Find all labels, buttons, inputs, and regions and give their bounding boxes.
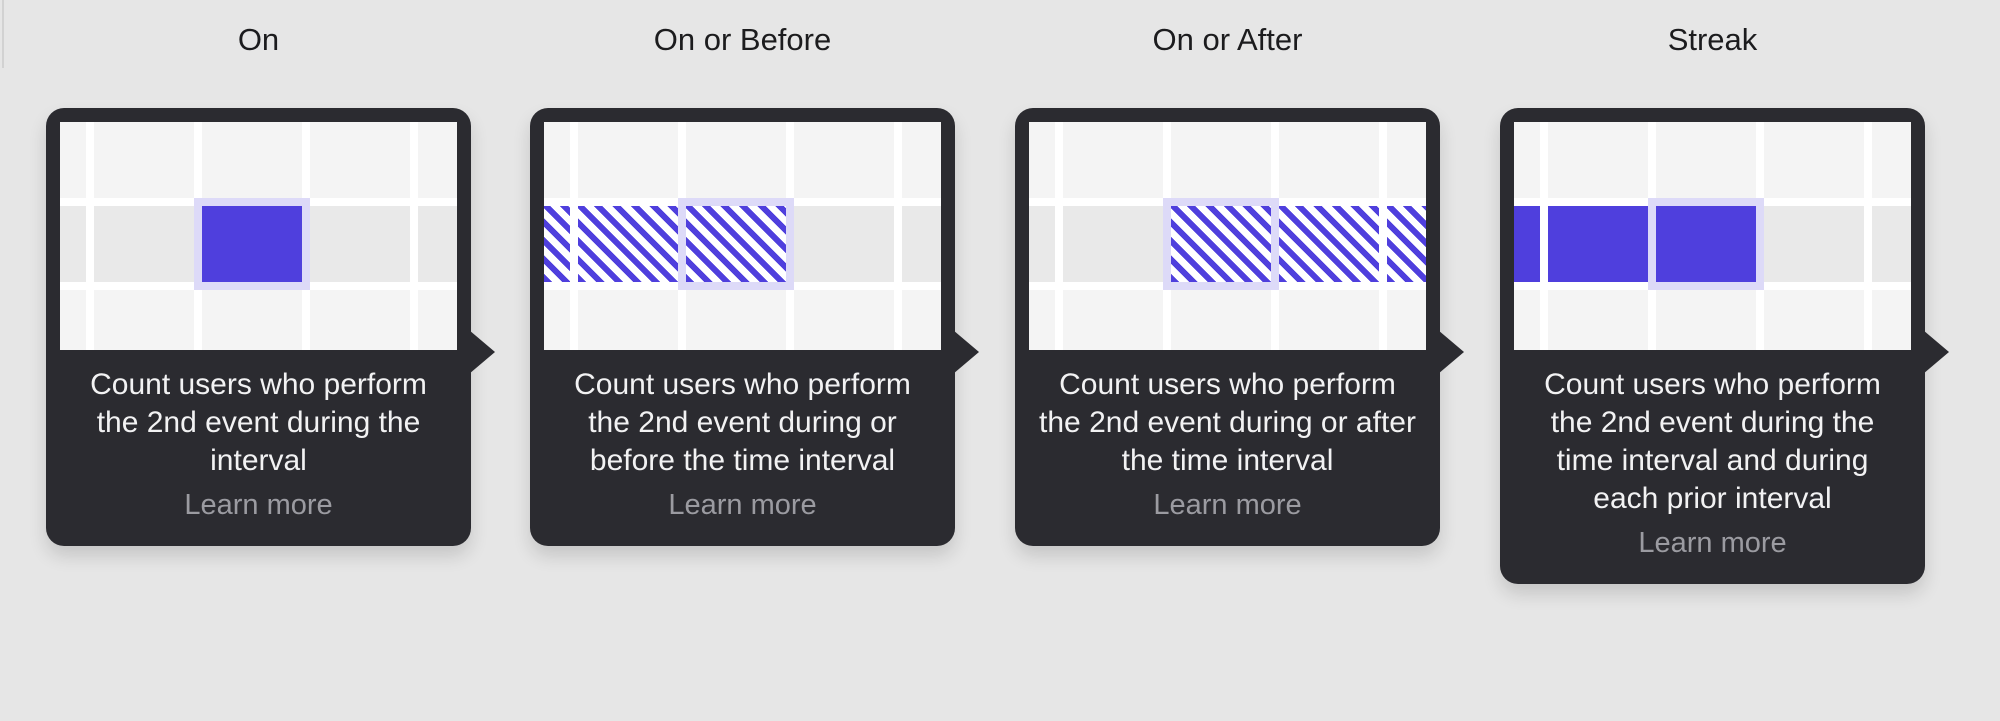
learn-more-link[interactable]: Learn more bbox=[544, 486, 941, 524]
column-headers: On On or Before On or After Streak bbox=[0, 0, 2000, 76]
comparison-panel: On On or Before On or After Streak bbox=[0, 0, 2000, 721]
card-description: Count users who perform the 2nd event du… bbox=[544, 366, 941, 480]
tooltip-tail-icon bbox=[1923, 330, 1949, 374]
column-header-on-or-before: On or Before bbox=[530, 22, 955, 58]
card-on-or-before[interactable]: Count users who perform the 2nd event du… bbox=[530, 108, 955, 546]
learn-more-link[interactable]: Learn more bbox=[1029, 486, 1426, 524]
fill-block bbox=[1656, 206, 1756, 282]
tooltip-tail-icon bbox=[953, 330, 979, 374]
column-header-on: On bbox=[46, 22, 471, 58]
diagram-on-or-before bbox=[544, 122, 941, 350]
card-on[interactable]: Count users who perform the 2nd event du… bbox=[46, 108, 471, 546]
card-on-or-after[interactable]: Count users who perform the 2nd event du… bbox=[1015, 108, 1440, 546]
column-header-streak: Streak bbox=[1500, 22, 1925, 58]
card-description: Count users who perform the 2nd event du… bbox=[60, 366, 457, 480]
fill-block bbox=[1514, 206, 1540, 282]
diagram-on-or-after bbox=[1029, 122, 1426, 350]
fill-block bbox=[1279, 206, 1379, 282]
fill-block bbox=[1548, 206, 1648, 282]
fill-block bbox=[1171, 206, 1271, 282]
card-description: Count users who perform the 2nd event du… bbox=[1029, 366, 1426, 480]
diagram-on bbox=[60, 122, 457, 350]
learn-more-link[interactable]: Learn more bbox=[1514, 524, 1911, 562]
card-description: Count users who perform the 2nd event du… bbox=[1514, 366, 1911, 518]
learn-more-link[interactable]: Learn more bbox=[60, 486, 457, 524]
fill-block bbox=[1387, 206, 1426, 282]
fill-block bbox=[686, 206, 786, 282]
tooltip-tail-icon bbox=[1438, 330, 1464, 374]
fill-block bbox=[544, 206, 570, 282]
fill-block bbox=[578, 206, 678, 282]
diagram-streak bbox=[1514, 122, 1911, 350]
tooltip-tail-icon bbox=[469, 330, 495, 374]
fill-block bbox=[202, 206, 302, 282]
column-header-on-or-after: On or After bbox=[1015, 22, 1440, 58]
card-streak[interactable]: Count users who perform the 2nd event du… bbox=[1500, 108, 1925, 584]
